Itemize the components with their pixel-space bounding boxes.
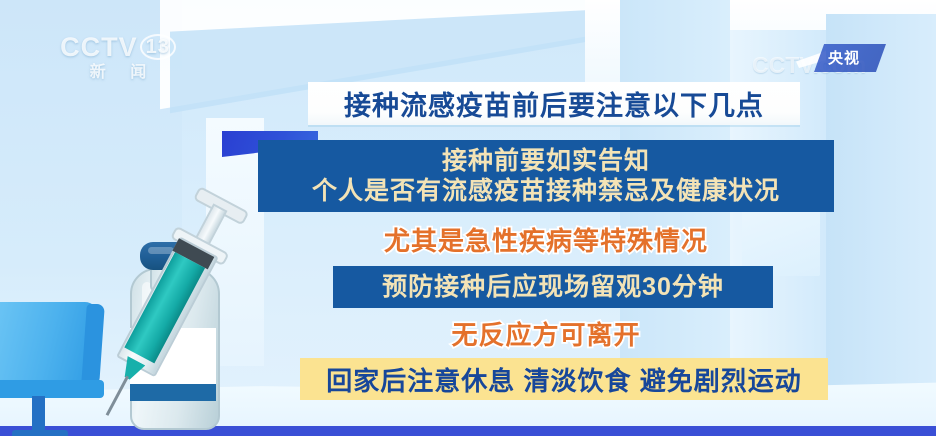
bullet-point-2: 尤其是急性疾病等特殊情况 [258, 218, 834, 260]
chair-foot [12, 430, 68, 436]
bullet-point-1-line-2: 个人是否有流感疫苗接种禁忌及健康状况 [312, 176, 780, 207]
bullet-point-2-line-1: 尤其是急性疾病等特殊情况 [384, 221, 708, 258]
bullet-point-1-line-1: 接种前要如实告知 [442, 146, 650, 177]
bullet-point-5-line-1: 回家后注意休息 清淡饮食 避免剧烈运动 [326, 361, 801, 398]
bullet-point-1: 接种前要如实告知 个人是否有流感疫苗接种禁忌及健康状况 [258, 140, 834, 212]
bullet-point-5: 回家后注意休息 清淡饮食 避免剧烈运动 [300, 358, 828, 400]
bullet-point-4: 无反应方可离开 [258, 312, 834, 354]
bullet-point-3: 预防接种后应现场留观30分钟 [333, 266, 773, 308]
background-column-c [826, 14, 936, 436]
bullet-point-4-line-1: 无反应方可离开 [451, 315, 640, 352]
broadcast-frame: CCTV13 新 闻 CCTV.com 央视 接种流感疫苗前后要注意以下几点 接… [0, 0, 936, 436]
headline-title-text: 接种流感疫苗前后要注意以下几点 [344, 84, 764, 123]
headline-title-bar: 接种流感疫苗前后要注意以下几点 [308, 82, 800, 125]
bullet-point-3-line-1: 预防接种后应现场留观30分钟 [382, 272, 724, 303]
